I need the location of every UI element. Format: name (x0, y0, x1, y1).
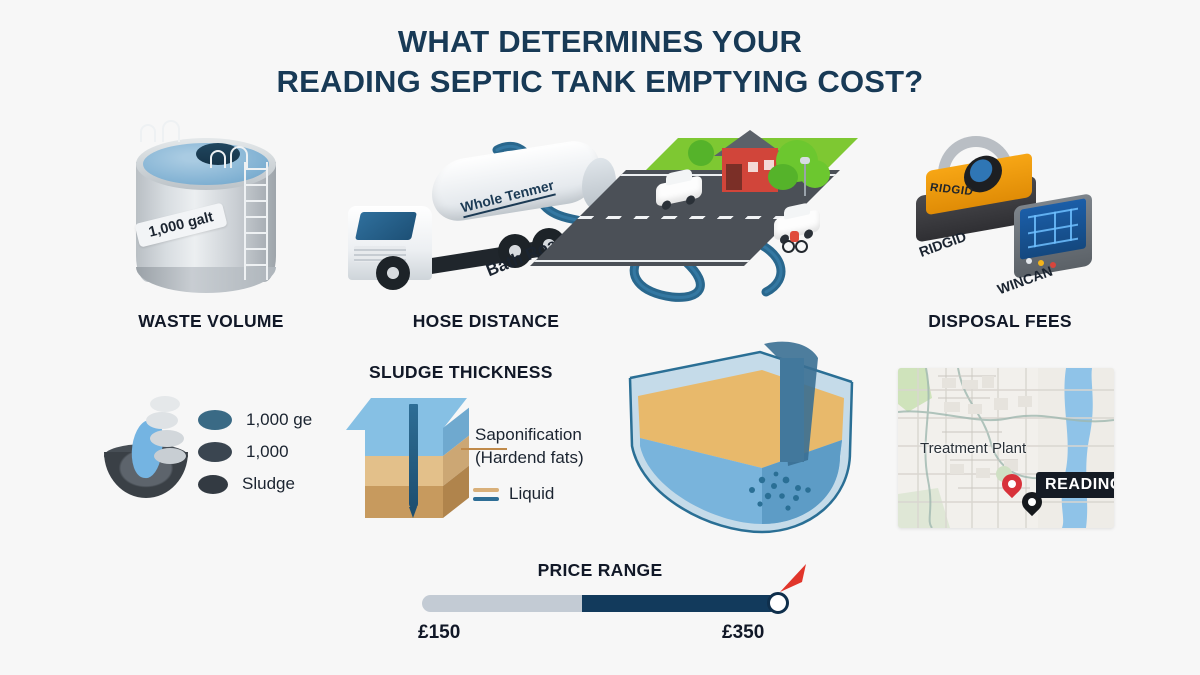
flake-2 (146, 412, 178, 429)
legend-label-1: 1,000 (246, 442, 289, 462)
tank-cross-section-illustration (612, 340, 862, 540)
waste-volume-illustration: 1,000 galt (118, 118, 304, 298)
map-place-label: Treatment Plant (920, 440, 1026, 457)
price-slider-fill (582, 595, 778, 612)
saponification-annotation: Saponification (Hardend fats) (475, 424, 584, 470)
core-layer-sludge (365, 486, 443, 518)
tree-4 (688, 140, 714, 166)
sludge-legend-illustration: 1,000 ge 1,000 Sludge (98, 390, 318, 516)
caption-waste-volume: WASTE VOLUME (78, 311, 344, 332)
house-window-1 (748, 162, 758, 172)
flake-1 (150, 396, 180, 412)
legend-dot-1 (198, 442, 232, 462)
price-slider-track[interactable] (422, 595, 778, 612)
flake-4 (154, 448, 186, 464)
title-line-2: READING SEPTIC TANK EMPTYING COST? (0, 62, 1200, 102)
price-min-label: £150 (418, 622, 460, 644)
tank-ladder (244, 162, 270, 280)
legend-label-0: 1,000 ge (246, 410, 312, 430)
legend-label-2: Sludge (242, 474, 295, 494)
tank-pipe-1 (140, 124, 156, 142)
legend-label-liquid: Liquid (509, 484, 554, 504)
monitor-led-1 (1026, 258, 1032, 264)
probe-icon (409, 404, 418, 508)
title-line-1: WHAT DETERMINES YOUR (0, 22, 1200, 62)
legend-item-1: 1,000 (198, 442, 289, 462)
flake-3 (150, 430, 184, 447)
sludge-thickness-panel: SLUDGE THICKNESS Saponification (Hardend… (355, 362, 585, 530)
caption-hose-distance: HOSE DISTANCE (336, 311, 636, 332)
infographic-canvas: WHAT DETERMINES YOUR READING SEPTIC TANK… (0, 0, 1200, 675)
legend-swatches (473, 488, 499, 501)
caption-sludge-thickness: SLUDGE THICKNESS (369, 362, 553, 383)
legend-item-0: 1,000 ge (198, 410, 312, 430)
house-door (726, 164, 742, 190)
annotation-line-1: Saponification (475, 424, 584, 447)
sludge-thickness-legend: Liquid (473, 484, 554, 504)
annotation-line-2: (Hardend fats) (475, 447, 584, 470)
price-range-widget[interactable]: PRICE RANGE £150 £350 (412, 560, 788, 652)
street-scene-illustration (626, 128, 858, 298)
legend-dot-0 (198, 410, 232, 430)
tank-pipe-2 (162, 120, 180, 142)
legend-dot-2 (198, 475, 228, 494)
tanker-barrel (432, 137, 600, 226)
truck-wheel-front (376, 256, 410, 290)
disposal-fees-illustration: RIDGID RIDGID WINCAN (908, 132, 1096, 298)
soil-core-illustration (365, 398, 475, 518)
core-layer-fats (365, 456, 443, 486)
truck-windshield (355, 212, 417, 240)
street-lamp (804, 162, 806, 196)
map-city-badge: READING (1036, 472, 1114, 498)
core-layer-water (365, 428, 443, 456)
tree-2 (768, 164, 798, 190)
price-max-label: £350 (722, 622, 764, 644)
price-pointer-arrow (776, 562, 810, 596)
caption-price-range: PRICE RANGE (412, 560, 788, 581)
tank-pipe-3 (210, 150, 226, 168)
treatment-plant-map[interactable]: Treatment Plant READING (898, 368, 1114, 528)
legend-item-2: Sludge (198, 474, 295, 494)
swatch-fats (473, 488, 499, 492)
caption-disposal-fees: DISPOSAL FEES (886, 311, 1114, 332)
swatch-liquid (473, 497, 499, 501)
page-title: WHAT DETERMINES YOUR READING SEPTIC TANK… (0, 22, 1200, 101)
cyclist (782, 240, 808, 254)
